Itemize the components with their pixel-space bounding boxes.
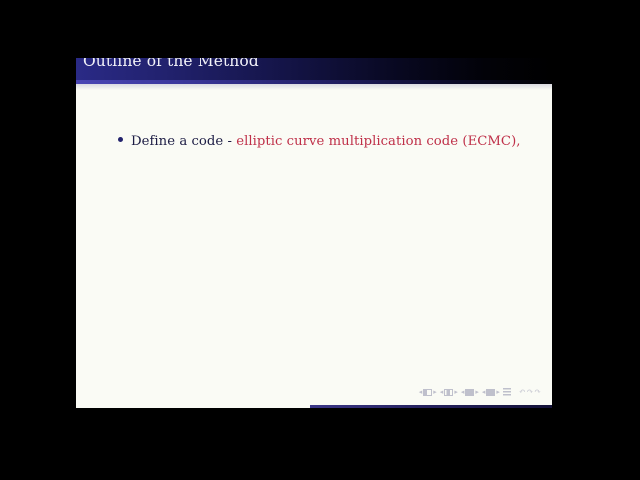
section-icon[interactable] <box>486 389 495 396</box>
subsection-next-icon[interactable]: ▸ <box>475 389 479 396</box>
subsection-icon[interactable] <box>465 389 474 396</box>
bullet-text: Define a code - elliptic curve multiplic… <box>131 134 521 149</box>
subsection-prev-icon[interactable]: ◂ <box>461 389 465 396</box>
slide-frame-icon[interactable] <box>423 389 432 396</box>
bullet-text-plain: Define a code - <box>131 134 236 149</box>
frame-icon[interactable] <box>444 389 453 396</box>
document-outline-icon[interactable] <box>503 388 511 396</box>
slide-title-bar: Outline of the Method <box>76 58 552 80</box>
frame-next-icon[interactable]: ▸ <box>454 389 458 396</box>
section-prev-icon[interactable]: ◂ <box>482 389 486 396</box>
beamer-navigation-bar[interactable]: ◂ ▸ ◂ ▸ ◂ ▸ ◂ ▸ <box>419 388 542 396</box>
nav-group-section[interactable]: ◂ ▸ <box>482 389 500 396</box>
section-next-icon[interactable]: ▸ <box>496 389 500 396</box>
bullet-marker-icon <box>118 137 123 142</box>
slide-body: Define a code - elliptic curve multiplic… <box>76 90 552 400</box>
frame-prev-icon[interactable]: ◂ <box>440 389 444 396</box>
bullet-item: Define a code - elliptic curve multiplic… <box>118 134 521 149</box>
bullet-text-emphasis: elliptic curve multiplication code (ECMC… <box>236 134 520 149</box>
back-forward-icon[interactable]: ↶↷↷ <box>519 388 542 396</box>
nav-group-subsection[interactable]: ◂ ▸ <box>461 389 479 396</box>
nav-group-slide[interactable]: ◂ ▸ <box>419 389 437 396</box>
slide-title: Outline of the Method <box>83 58 259 71</box>
video-stage: Outline of the Method Define a code - el… <box>0 0 640 480</box>
slide-footer: ◂ ▸ ◂ ▸ ◂ ▸ ◂ ▸ <box>76 388 552 408</box>
presentation-slide: Outline of the Method Define a code - el… <box>76 58 552 408</box>
slide-prev-icon[interactable]: ◂ <box>419 389 423 396</box>
nav-group-frame[interactable]: ◂ ▸ <box>440 389 458 396</box>
slide-next-icon[interactable]: ▸ <box>433 389 437 396</box>
footer-rule <box>310 405 552 408</box>
